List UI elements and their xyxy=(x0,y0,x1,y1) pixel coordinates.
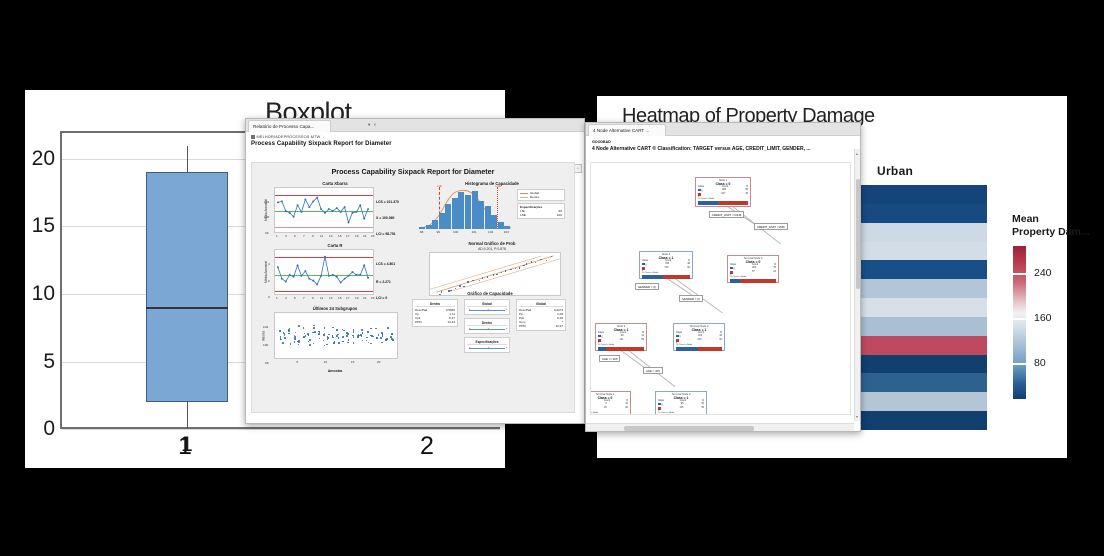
histogram-xaxis: 98 99 100 101 102 103 xyxy=(419,229,511,236)
subgroup-point xyxy=(362,340,364,342)
subgroup-point xyxy=(353,336,355,338)
hist-xtick-101: 101 xyxy=(471,230,476,234)
histogram-bar-2 xyxy=(432,220,438,229)
subgroup-point xyxy=(303,327,305,329)
node-2-bar xyxy=(642,275,690,279)
legend-colorbar xyxy=(1012,245,1027,400)
r-lcl-label: LCI = 0 xyxy=(376,296,387,300)
legend-tick-240: 240 xyxy=(1034,267,1052,279)
subgroup-point xyxy=(294,338,296,340)
subgroup-point xyxy=(375,328,377,330)
subgroup-point xyxy=(362,332,364,334)
normal-plot-area xyxy=(429,252,561,296)
y-tick-0: 0 xyxy=(43,417,55,441)
split-label-0: CREDIT_LIMIT <=1546 xyxy=(709,211,744,218)
y-tick-5: 5 xyxy=(43,350,55,374)
xbar-xaxis: 1 3 5 7 9 11 13 15 17 19 21 23 xyxy=(274,233,374,240)
within-stats-title: Dentro xyxy=(415,302,455,307)
subgroup-point xyxy=(391,333,393,335)
legend-title-line2: Property Dam... xyxy=(1012,226,1100,239)
tab-process-capability-report[interactable]: Relatório de Processo Capa... xyxy=(248,120,331,132)
xbar-ytick-100: 100 xyxy=(264,215,269,219)
hist-xtick-100: 100 xyxy=(453,230,458,234)
last-subgroups-xlabel: Amostra xyxy=(260,369,410,373)
histogram-bar-9 xyxy=(478,201,484,229)
node-2-bar-caption: % Class in Node xyxy=(640,272,692,274)
subgroup-point xyxy=(328,337,330,339)
minitab-source-file: MELHORIADEPROCESSOS.MTW xyxy=(246,132,584,139)
minitab-body: MELHORIADEPROCESSOS.MTW Process Capabili… xyxy=(246,132,584,423)
legend-swatch-dentro xyxy=(520,197,528,198)
node-root-bar xyxy=(698,201,748,205)
xbar-xtick-5: 5 xyxy=(294,234,296,238)
xbar-xtick-1: 1 xyxy=(276,234,278,238)
xbar-xtick-9: 9 xyxy=(312,234,314,238)
node-t3-bar xyxy=(676,347,722,351)
r-ucl-label: LCS = 4.801 xyxy=(376,262,395,266)
subgroup-point xyxy=(288,333,290,335)
slide-number-2: 2 xyxy=(420,432,434,461)
normal-plot-point xyxy=(501,272,502,273)
subgroup-point xyxy=(314,331,316,333)
indicator-label-spec: Especificações xyxy=(467,340,507,345)
spec-row-val-1: 100 xyxy=(557,213,562,217)
within-stats-box: Dentro DesvPad0,5966 Cp1,11 Cpk0,37 PPM1… xyxy=(412,299,458,327)
xbar-xtick-11: 11 xyxy=(320,234,323,238)
histogram-plot-area: LIE LSE xyxy=(419,187,511,229)
node-t3-bar-caption: % Class in Node xyxy=(674,344,724,346)
split-label-2: GENDER = (f) xyxy=(635,283,659,290)
subgroup-point xyxy=(313,327,315,329)
normal-plot-point xyxy=(496,274,497,275)
subgroup-point xyxy=(324,327,326,329)
subgroup-point xyxy=(332,337,334,339)
subgroup-point xyxy=(313,343,315,345)
box-median-category-1 xyxy=(146,307,228,309)
indicator-bar-global: +++ xyxy=(467,308,507,313)
split-label-1: CREDIT_LIMIT >1546 xyxy=(754,223,788,230)
histogram-bar-3 xyxy=(439,213,445,229)
histogram-legend: Global Dentro xyxy=(517,189,565,201)
tree-node-root[interactable]: Node 1 Class = 0 ClassCount% 098355 1817… xyxy=(695,177,751,207)
subgroup-point xyxy=(358,336,360,338)
r-xtick-7: 7 xyxy=(303,296,305,300)
xbar-xtick-7: 7 xyxy=(303,234,305,238)
node-root-bar-caption: % Class in Node xyxy=(696,198,750,200)
subgroup-point xyxy=(328,334,330,336)
subgroups-ytick-102: 102 xyxy=(263,325,268,329)
histogram-bar-7 xyxy=(465,195,471,229)
subgroup-point xyxy=(298,344,300,346)
subgroup-point xyxy=(333,342,335,344)
cart-doc-heading: 4 Node Alternative CART ® Classification… xyxy=(586,144,860,155)
r-xtick-19: 19 xyxy=(355,296,358,300)
r-xtick-3: 3 xyxy=(285,296,287,300)
subgroup-point xyxy=(326,344,328,346)
indicator-label-global: Global xyxy=(467,302,507,307)
tree-node-2[interactable]: Node 2 Class = 1 ClassCount% 078048 1760… xyxy=(639,251,693,279)
xbar-ucl-label: LCS = 101.370 xyxy=(376,200,399,204)
subgroup-point xyxy=(323,340,325,342)
overall-key-4: PPM xyxy=(519,324,526,328)
subgroup-point xyxy=(361,329,363,331)
cart-vertical-scrollbar[interactable]: ▴ ▾ xyxy=(854,149,860,421)
sixpack-report-title: Process Capability Sixpack Report for Di… xyxy=(252,163,574,179)
subgroup-point xyxy=(348,339,350,341)
node-t2-table: ClassCount% 09545 111555 xyxy=(656,400,706,412)
subgroup-point xyxy=(381,342,383,344)
xbar-xtick-21: 21 xyxy=(363,234,366,238)
xbar-xtick-13: 13 xyxy=(329,234,332,238)
xbar-xtick-19: 19 xyxy=(355,234,358,238)
hist-xtick-99: 99 xyxy=(436,230,439,234)
histogram-bar-11 xyxy=(491,215,497,229)
minitab-doc-heading: Process Capability Sixpack Report for Di… xyxy=(246,139,584,150)
r-xtick-23: 23 xyxy=(371,296,374,300)
subgroup-point xyxy=(338,337,340,339)
subgroup-point xyxy=(366,340,368,342)
node-3-bar xyxy=(598,347,644,351)
xbar-lcl-label: LCI = 98.751 xyxy=(376,232,396,236)
normal-plot-point xyxy=(505,270,506,271)
subgroup-point xyxy=(304,333,306,335)
histogram-bar-5 xyxy=(452,198,458,229)
gridline-0 xyxy=(62,429,500,430)
xbar-series xyxy=(275,188,373,232)
hist-xtick-102: 102 xyxy=(488,230,493,234)
subgroups-ytick-98: 98 xyxy=(265,361,268,365)
r-xtick-11: 11 xyxy=(320,296,323,300)
subgroup-point xyxy=(366,337,368,339)
cart-tabstrip: 4 Node Alternative CART ... xyxy=(586,123,860,136)
split-label-4: AGE <= 325 xyxy=(599,355,620,362)
subgroup-point xyxy=(313,325,315,327)
subgroups-xtick-5: 5 xyxy=(296,360,298,364)
tree-node-3[interactable]: Node 3 Class = 1 ClassCount% 09841 11415… xyxy=(595,323,647,351)
y-tick-20: 20 xyxy=(32,147,55,171)
last-subgroups-ylabel: Valores xyxy=(261,330,265,341)
split-label-5: AGE > 325 xyxy=(643,367,663,374)
subgroup-point xyxy=(377,338,379,340)
node-3-table: ClassCount% 09841 114159 xyxy=(596,332,646,344)
slide-number-1: 1 xyxy=(178,432,192,461)
tab-controls[interactable]: ▾ × xyxy=(368,122,377,128)
xbar-ytick-101: 101 xyxy=(264,200,269,204)
normal-plot-title: Normal Gráfico de Prob xyxy=(417,241,567,246)
subgroup-point xyxy=(284,337,286,339)
subgroup-point xyxy=(338,342,340,344)
overall-stats-title: Global xyxy=(519,302,563,307)
subgroup-point xyxy=(381,332,383,334)
normal-prob-plot: Normal Gráfico de Prob AD:0.201, P:0.878 xyxy=(417,241,567,296)
overall-stats-box: Global DesvPad0,6073 Pp1,08 Ppk0,36 Cpm*… xyxy=(516,299,566,331)
within-key-3: PPM xyxy=(415,320,422,324)
subgroup-point xyxy=(307,333,309,335)
normal-plot-point xyxy=(459,285,460,286)
xbar-chart: Carta Xbarra Média Amostral xyxy=(260,181,410,240)
normal-plot-point xyxy=(463,286,464,287)
r-series xyxy=(275,250,373,294)
node-t2-bar-caption: % Class in Node xyxy=(656,412,706,414)
overall-val-4: 12,97 xyxy=(555,324,563,328)
subgroup-point xyxy=(353,342,355,344)
histogram-bar-10 xyxy=(485,206,491,229)
subgroups-ytick-100: 100 xyxy=(263,343,268,347)
capability-plot: Gráfico de Capacidade Dentro DesvPad0,59… xyxy=(410,291,570,297)
r-ytick-0: 0 xyxy=(268,295,270,299)
subgroup-point xyxy=(318,333,320,335)
indicator-spec-box: Especificações +++ xyxy=(464,337,510,353)
r-xtick-1: 1 xyxy=(276,296,278,300)
indicator-bar-within: +++ xyxy=(467,327,507,332)
normal-plot-point xyxy=(526,263,527,264)
subgroup-point xyxy=(346,332,348,334)
cart-dataset-label: GOODBAD xyxy=(586,136,860,144)
capability-plot-title: Gráfico de Capacidade xyxy=(410,291,570,296)
legend-tick-80: 80 xyxy=(1034,357,1046,369)
normal-plot-point xyxy=(482,277,483,278)
xbar-xtick-3: 3 xyxy=(285,234,287,238)
subgroup-point xyxy=(294,341,296,343)
r-xtick-21: 21 xyxy=(363,296,366,300)
subgroup-point xyxy=(303,336,305,338)
subgroups-xaxis: 5 10 15 20 xyxy=(274,359,398,367)
histogram-bar-6 xyxy=(458,192,464,229)
tree-node-terminal-4[interactable]: Terminal Node 4 Class = 0 ClassCount% 02… xyxy=(727,255,779,283)
cart-horizontal-scrollbar[interactable] xyxy=(586,423,854,431)
cart-hscroll-thumb[interactable] xyxy=(624,426,754,431)
legend-label-dentro: Dentro xyxy=(530,195,539,199)
r-plot-area: Média Amostral xyxy=(274,249,374,295)
tab-cart-classification[interactable]: 4 Node Alternative CART ... xyxy=(588,124,666,136)
r-xtick-9: 9 xyxy=(312,296,314,300)
subgroup-point xyxy=(380,337,382,339)
normal-plot-point xyxy=(467,281,468,282)
last-subgroups-plot-area: Valores xyxy=(274,312,398,359)
histogram-spec-box: Especificações LIE 99 LSE 100 xyxy=(517,203,565,219)
subgroup-point xyxy=(361,335,363,337)
last-subgroups-title: Últimos 24 Subgrupos xyxy=(260,306,410,311)
y-tick-10: 10 xyxy=(32,282,55,306)
histogram-bar-8 xyxy=(472,191,478,229)
subgroup-point xyxy=(353,331,355,333)
capability-histogram: Histograma de Capacidade LIE LSE 98 99 1 xyxy=(417,181,567,236)
subgroup-point xyxy=(309,339,311,341)
xbar-xtick-23: 23 xyxy=(371,234,374,238)
indicator-global-box: Global +++ xyxy=(464,299,510,315)
node-2-table: ClassCount% 078048 176052 xyxy=(640,260,692,272)
node-t4-bar xyxy=(730,279,776,283)
node-3-bar-caption: % Class in Node xyxy=(596,344,646,346)
hist-xtick-103: 103 xyxy=(504,230,509,234)
xbar-center-label: X = 100.060 xyxy=(376,216,394,220)
last-subgroups-chart: Últimos 24 Subgrupos Valores 102 100 98 … xyxy=(260,306,410,373)
r-xtick-17: 17 xyxy=(346,296,349,300)
normal-plot-point xyxy=(523,265,524,266)
legend-swatch-global xyxy=(520,193,528,194)
node-t4-table: ClassCount% 020378 15722 xyxy=(728,264,778,276)
heatmap-column-label: Urban xyxy=(877,164,913,178)
subgroups-xtick-15: 15 xyxy=(351,360,354,364)
xbar-ytick-99: 99 xyxy=(265,231,268,235)
r-xaxis: 1 3 5 7 9 11 13 15 17 19 21 23 xyxy=(274,295,374,302)
whisker-lower xyxy=(187,402,188,429)
subgroup-point xyxy=(295,332,297,334)
hist-xtick-98: 98 xyxy=(420,230,423,234)
subgroup-point xyxy=(309,344,311,346)
box-rect-category-1 xyxy=(146,172,228,402)
r-chart: Carta R Média Amostral xyxy=(260,243,410,302)
subgroup-point xyxy=(378,334,380,336)
legend-notch-240 xyxy=(1012,273,1027,275)
sixpack-report-card: Process Capability Sixpack Report for Di… xyxy=(251,162,575,413)
xbar-xtick-17: 17 xyxy=(346,234,349,238)
heatmap-legend: Mean Property Dam... 240 160 80 xyxy=(1012,213,1100,400)
subgroup-point xyxy=(342,341,344,343)
legend-tick-160: 160 xyxy=(1034,312,1052,324)
node-t4-bar-caption: % Class in Node xyxy=(728,276,778,278)
tree-node-terminal-1[interactable]: Terminal Node 1 Class = 0 ClassCount% 03… xyxy=(590,391,631,415)
r-ytick-2: 2 xyxy=(268,279,270,283)
histogram-bar-4 xyxy=(445,204,451,229)
y-tick-15: 15 xyxy=(32,214,55,238)
scroll-up-arrow[interactable]: ▴ xyxy=(856,151,858,156)
xbar-chart-title: Carta Xbarra xyxy=(260,181,410,186)
subgroup-point xyxy=(336,335,338,337)
within-val-3: 13,43 xyxy=(447,320,455,324)
normal-plot-point xyxy=(540,259,541,260)
subgroup-point xyxy=(370,343,372,345)
normal-plot-subtitle: AD:0.201, P:0.878 xyxy=(417,247,567,251)
r-xtick-13: 13 xyxy=(329,296,332,300)
indicator-label-within: Dentro xyxy=(467,321,507,326)
subgroup-point xyxy=(373,336,375,338)
node-t3-table: ClassCount% 018246 121354 xyxy=(674,332,724,344)
xbar-xtick-15: 15 xyxy=(338,234,341,238)
subgroup-point xyxy=(385,340,387,342)
indicator-within-box: Dentro +++ xyxy=(464,318,510,334)
subgroup-point xyxy=(282,342,284,344)
r-xtick-15: 15 xyxy=(338,296,341,300)
subgroup-point xyxy=(324,345,326,347)
subgroup-point xyxy=(298,325,300,327)
subgroup-point xyxy=(319,331,321,333)
worksheet-icon xyxy=(251,135,255,139)
node-root-table: ClassCount% 098355 181745 xyxy=(696,186,750,198)
split-label-3: GENDER = (f) xyxy=(679,295,703,302)
normal-plot-point xyxy=(493,274,494,275)
subgroup-point xyxy=(332,327,334,329)
subgroup-point xyxy=(392,339,394,341)
subgroup-point xyxy=(289,328,291,330)
cart-tree-canvas: Node 1 Class = 0 ClassCount% 098355 1817… xyxy=(590,162,851,415)
r-ytick-4: 4 xyxy=(268,262,270,266)
minitab-window[interactable]: Relatório de Processo Capa... ▾ × MELHOR… xyxy=(245,118,585,424)
subgroup-point xyxy=(367,331,369,333)
node-t1-bar-caption: % Class in Node xyxy=(590,412,630,414)
node-t1-table: ClassCount% 0310 12690 xyxy=(590,400,630,412)
r-chart-title: Carta R xyxy=(260,243,410,248)
subgroup-point xyxy=(279,330,281,332)
subgroup-point xyxy=(382,335,384,337)
xbar-plot-area: Média Amostral xyxy=(274,187,374,233)
histogram-bar-12 xyxy=(498,222,504,229)
minitab-tabstrip: Relatório de Processo Capa... ▾ × xyxy=(246,119,584,132)
subgroup-point xyxy=(368,342,370,344)
subgroup-point xyxy=(387,327,389,329)
cart-body: GOODBAD 4 Node Alternative CART ® Classi… xyxy=(586,136,860,431)
subgroup-point xyxy=(280,339,282,341)
screenshot-stage: Boxplot 0 5 10 15 20 1 Heatmap of Proper… xyxy=(0,0,1104,556)
subgroup-point xyxy=(290,343,292,345)
normal-plot-point xyxy=(510,269,511,270)
legend-title-line1: Mean xyxy=(1012,213,1100,226)
legend-notch-80 xyxy=(1012,363,1027,365)
subgroup-point xyxy=(342,336,344,338)
subgroup-point xyxy=(346,335,348,337)
subgroup-point xyxy=(370,328,372,330)
cart-vscroll-thumb[interactable] xyxy=(856,179,860,289)
cart-window[interactable]: 4 Node Alternative CART ... GOODBAD 4 No… xyxy=(585,122,861,432)
subgroup-point xyxy=(298,340,300,342)
subgroup-point xyxy=(319,338,321,340)
legend-notch-160 xyxy=(1012,318,1027,320)
normal-plot-point xyxy=(487,276,488,277)
subgroup-point xyxy=(337,334,339,336)
subgroups-xtick-20: 20 xyxy=(377,360,380,364)
tree-node-terminal-2[interactable]: Terminal Node 2 Class = 1 ClassCount% 09… xyxy=(655,391,707,415)
subgroup-point xyxy=(347,342,349,344)
subgroups-xtick-10: 10 xyxy=(324,360,327,364)
subgroup-point xyxy=(323,334,325,336)
subgroup-point xyxy=(343,330,345,332)
scroll-down-arrow[interactable]: ▾ xyxy=(856,414,858,419)
tree-node-terminal-3[interactable]: Terminal Node 3 Class = 1 ClassCount% 01… xyxy=(673,323,725,351)
subgroup-point xyxy=(284,335,286,337)
spec-row-key-1: LSE xyxy=(520,213,526,217)
subgroup-point xyxy=(336,329,338,331)
r-center-label: R = 2.271 xyxy=(376,280,391,284)
r-xtick-5: 5 xyxy=(294,296,296,300)
indicator-bar-spec: +++ xyxy=(467,346,507,351)
